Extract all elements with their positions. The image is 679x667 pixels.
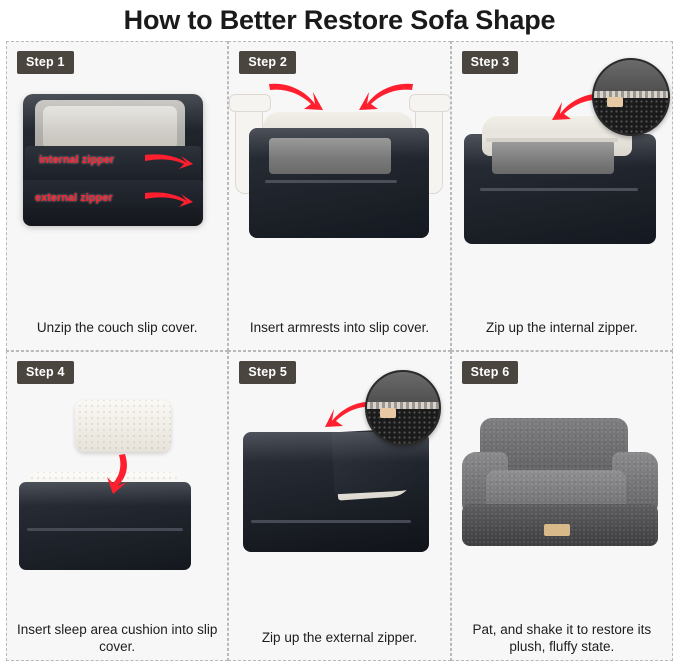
step-caption-1: Unzip the couch slip cover. [7,306,227,350]
zoom-bubble-icon [592,58,670,136]
instruction-infographic: How to Better Restore Sofa Shape interna… [0,0,679,667]
bag-window-inner [43,106,177,146]
cushion-texture [75,400,171,452]
step-card-4: Step 4 Insert sleep area cushion into sl… [6,351,228,661]
external-zipper-label: external zipper [35,192,113,204]
step-3-illustration [452,42,672,306]
external-zipper-line [27,528,183,531]
zoom-mesh-bottom [367,405,439,444]
external-zipper-line [480,188,638,191]
step-badge-3: Step 3 [462,51,519,74]
red-arrow-icon [99,452,139,496]
step-2-illustration [229,42,449,306]
gray-inner-panel [492,140,614,174]
step-card-5: Step 5 Zip up the external zipper. [228,351,450,661]
red-arrow-icon [143,188,197,210]
zoom-zipper-pull [380,408,396,418]
step-card-6: Step 6 Pat, and shake it to restore its … [451,351,673,661]
step-4-illustration [7,352,227,616]
step-caption-2: Insert armrests into slip cover. [229,306,449,350]
brand-tag [544,524,570,536]
zoom-zipper-teeth [367,402,439,409]
step-badge-5: Step 5 [239,361,296,384]
step-badge-2: Step 2 [239,51,296,74]
red-arrow-icon [357,78,417,118]
internal-zipper-line [486,138,618,142]
step-badge-1: Step 1 [17,51,74,74]
steps-grid: internal zipper external zipper Step 1 U… [6,41,673,661]
step-6-illustration [452,352,672,616]
zoom-zipper-pull [607,97,623,107]
gray-inner-panel [269,138,391,174]
step-caption-4: Insert sleep area cushion into slip cove… [7,616,227,660]
step-1-illustration: internal zipper external zipper [7,42,227,306]
internal-zipper-line [265,180,397,183]
zoom-fabric-top [594,60,668,94]
step-caption-3: Zip up the internal zipper. [452,306,672,350]
step-5-illustration [229,352,449,616]
step-caption-6: Pat, and shake it to restore its plush, … [452,616,672,660]
step-card-2: Step 2 Insert armrests into slip cover. [228,41,450,351]
step-card-1: internal zipper external zipper Step 1 U… [6,41,228,351]
external-zipper-line [251,520,411,523]
internal-zipper-label: internal zipper [39,154,114,166]
page-title: How to Better Restore Sofa Shape [0,0,679,41]
red-arrow-icon [265,78,325,118]
step-caption-5: Zip up the external zipper. [229,616,449,660]
zoom-mesh-bottom [594,94,668,134]
red-arrow-icon [143,150,197,172]
step-card-3: Step 3 Zip up the internal zipper. [451,41,673,351]
zoom-zipper-teeth [594,91,668,98]
zoom-bubble-icon [365,370,441,446]
step-badge-4: Step 4 [17,361,74,384]
zoom-fabric-top [367,372,439,405]
step-badge-6: Step 6 [462,361,519,384]
sleep-area-cushion [75,400,171,452]
